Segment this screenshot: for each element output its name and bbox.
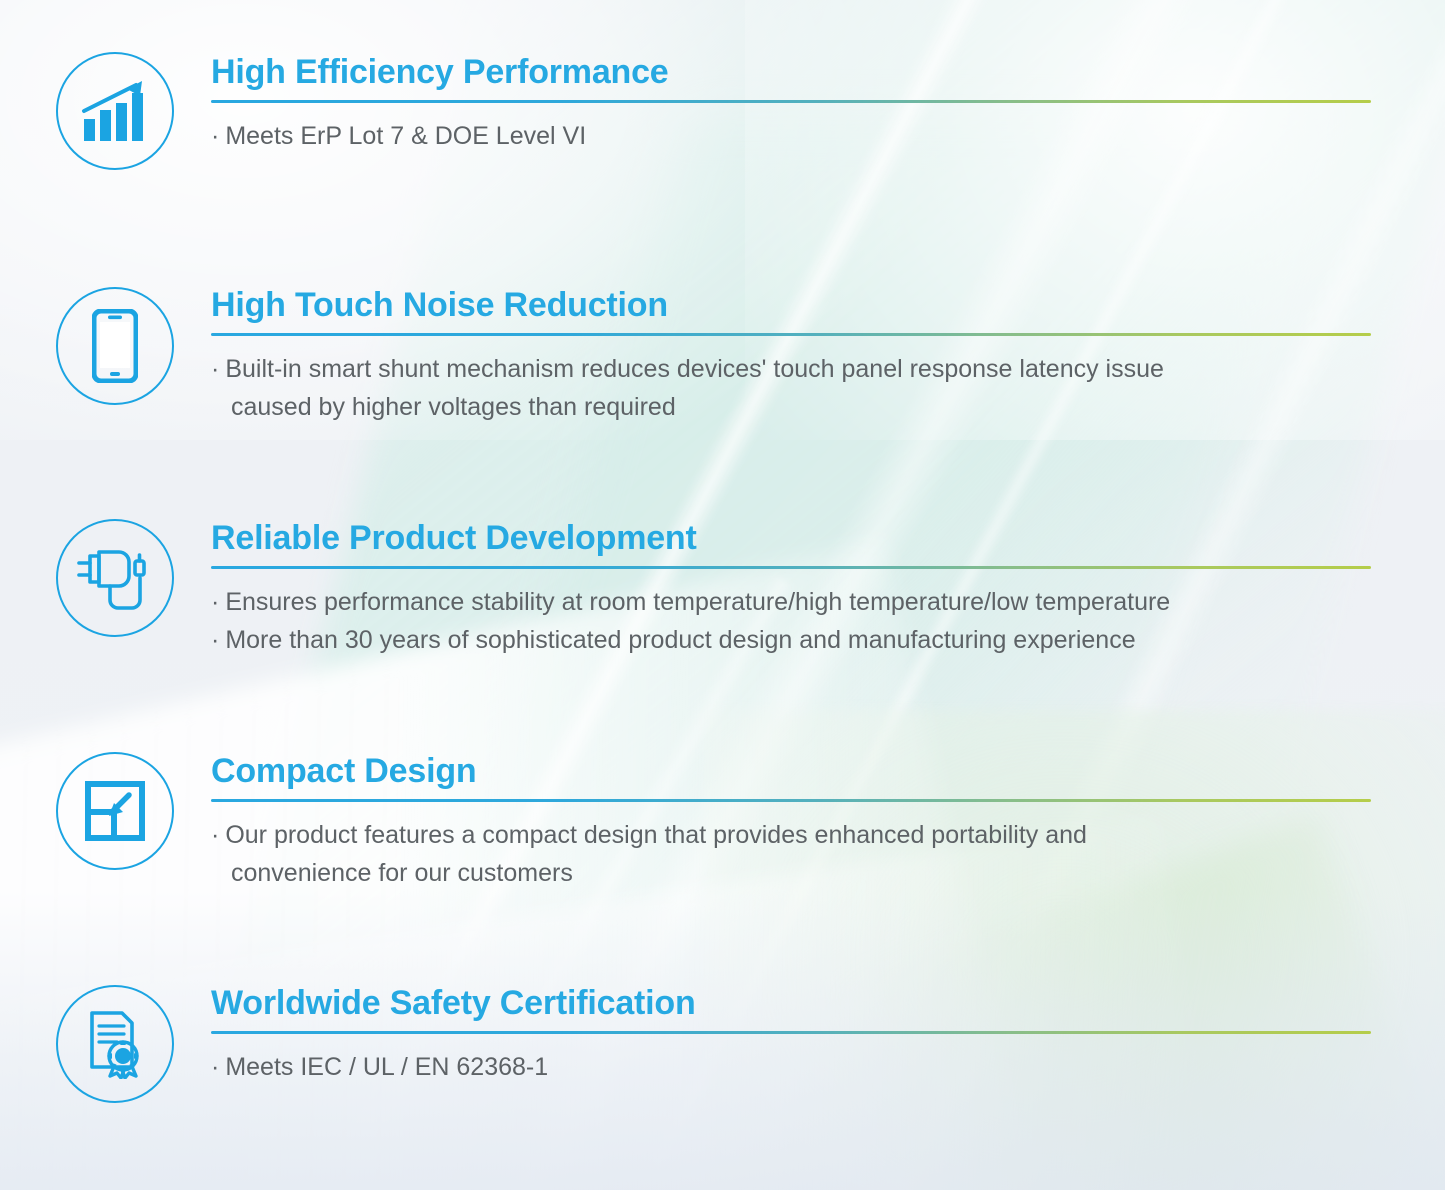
icon-circle [56,519,174,637]
bullet-item: ·More than 30 years of sophisticated pro… [211,621,1371,659]
power-adapter-icon [76,543,154,613]
feature-title: Worldwide Safety Certification [211,986,1371,1022]
bullet-marker: · [211,122,219,150]
feature-divider [211,333,1371,336]
bullet-text-continued: caused by higher voltages than required [211,388,1371,426]
feature-divider [211,100,1371,103]
feature-bullets: ·Built-in smart shunt mechanism reduces … [211,350,1371,426]
bullet-text: Built-in smart shunt mechanism reduces d… [225,355,1164,383]
bullet-text: Meets ErP Lot 7 & DOE Level VI [225,122,586,150]
icon-circle [56,752,174,870]
feature-divider [211,799,1371,802]
bullet-marker: · [211,821,219,849]
feature-icon-compact-design [56,752,174,870]
feature-icon-worldwide-safety-certification [56,985,174,1103]
bullet-marker: · [211,355,219,383]
feature-bullets: ·Meets IEC / UL / EN 62368-1 [211,1048,1371,1086]
certificate-award-icon [84,1009,146,1079]
feature-title: High Touch Noise Reduction [211,288,1371,324]
bullet-item: ·Meets IEC / UL / EN 62368-1 [211,1048,1371,1086]
smartphone-icon [92,309,138,383]
feature-divider [211,1031,1371,1034]
icon-circle [56,52,174,170]
feature-block-compact-design: Compact Design ·Our product features a c… [211,754,1371,892]
feature-block-worldwide-safety-certification: Worldwide Safety Certification ·Meets IE… [211,986,1371,1086]
bullet-text-continued: convenience for our customers [211,854,1371,892]
bullet-text: Meets IEC / UL / EN 62368-1 [225,1053,548,1081]
feature-bullets: ·Ensures performance stability at room t… [211,583,1371,659]
feature-divider [211,566,1371,569]
feature-icon-high-touch-noise-reduction [56,287,174,405]
feature-bullets: ·Meets ErP Lot 7 & DOE Level VI [211,117,1371,155]
feature-title: Reliable Product Development [211,521,1371,557]
bullet-item: ·Built-in smart shunt mechanism reduces … [211,350,1371,426]
features-list: High Efficiency Performance ·Meets ErP L… [0,0,1445,1190]
bullet-marker: · [211,1053,219,1081]
feature-title: High Efficiency Performance [211,55,1371,91]
bullet-item: ·Our product features a compact design t… [211,816,1371,892]
bullet-marker: · [211,626,219,654]
icon-circle [56,287,174,405]
bullet-item: ·Meets ErP Lot 7 & DOE Level VI [211,117,1371,155]
feature-block-high-touch-noise-reduction: High Touch Noise Reduction ·Built-in sma… [211,288,1371,426]
feature-title: Compact Design [211,754,1371,790]
bullet-marker: · [211,588,219,616]
bullet-item: ·Ensures performance stability at room t… [211,583,1371,621]
bullet-text: Our product features a compact design th… [225,821,1087,849]
bullet-text: More than 30 years of sophisticated prod… [225,626,1135,654]
bullet-text: Ensures performance stability at room te… [225,588,1170,616]
feature-highlights-page: High Efficiency Performance ·Meets ErP L… [0,0,1445,1190]
feature-bullets: ·Our product features a compact design t… [211,816,1371,892]
compact-resize-icon [83,779,147,843]
bar-chart-growth-icon [80,79,150,143]
feature-icon-high-efficiency-performance [56,52,174,170]
feature-icon-reliable-product-development [56,519,174,637]
feature-block-reliable-product-development: Reliable Product Development ·Ensures pe… [211,521,1371,659]
icon-circle [56,985,174,1103]
feature-block-high-efficiency-performance: High Efficiency Performance ·Meets ErP L… [211,55,1371,155]
